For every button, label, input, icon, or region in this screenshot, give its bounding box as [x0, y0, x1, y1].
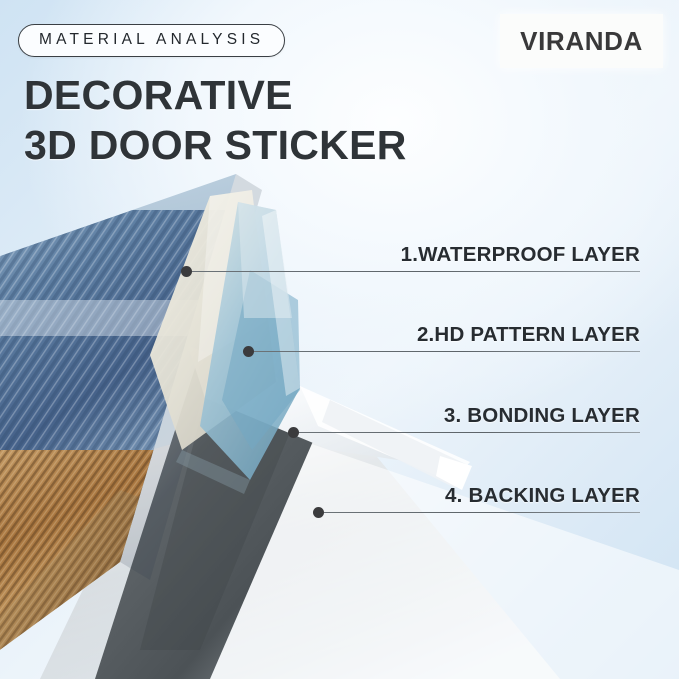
- callout-dot-2: [243, 346, 254, 357]
- callout-waterproof-layer: 1.WATERPROOF LAYER: [186, 238, 679, 272]
- callout-label-3: 3. BONDING LAYER: [444, 404, 640, 428]
- callout-bonding-layer: 3. BONDING LAYER: [293, 399, 679, 433]
- callout-leader-line-3: [293, 432, 640, 433]
- callout-hd-pattern-layer: 2.HD PATTERN LAYER: [248, 318, 679, 352]
- infographic-canvas: MATERIAL ANALYSIS DECORATIVE 3D DOOR STI…: [0, 0, 679, 679]
- callout-label-2: 2.HD PATTERN LAYER: [417, 323, 640, 347]
- callout-leader-line-4: [318, 512, 640, 513]
- callout-label-4: 4. BACKING LAYER: [445, 484, 640, 508]
- page-title-line-1: DECORATIVE: [24, 70, 407, 120]
- callout-dot-4: [313, 507, 324, 518]
- callout-leader-line-2: [248, 351, 640, 352]
- callout-label-1: 1.WATERPROOF LAYER: [401, 243, 640, 267]
- callout-dot-1: [181, 266, 192, 277]
- brand-name: VIRANDA: [520, 26, 643, 57]
- callout-dot-3: [288, 427, 299, 438]
- page-title: DECORATIVE 3D DOOR STICKER: [24, 70, 407, 170]
- callout-leader-line-1: [186, 271, 640, 272]
- material-analysis-badge: MATERIAL ANALYSIS: [18, 24, 285, 57]
- brand-logo: VIRANDA: [500, 14, 663, 68]
- page-title-line-2: 3D DOOR STICKER: [24, 120, 407, 170]
- callout-backing-layer: 4. BACKING LAYER: [318, 479, 679, 513]
